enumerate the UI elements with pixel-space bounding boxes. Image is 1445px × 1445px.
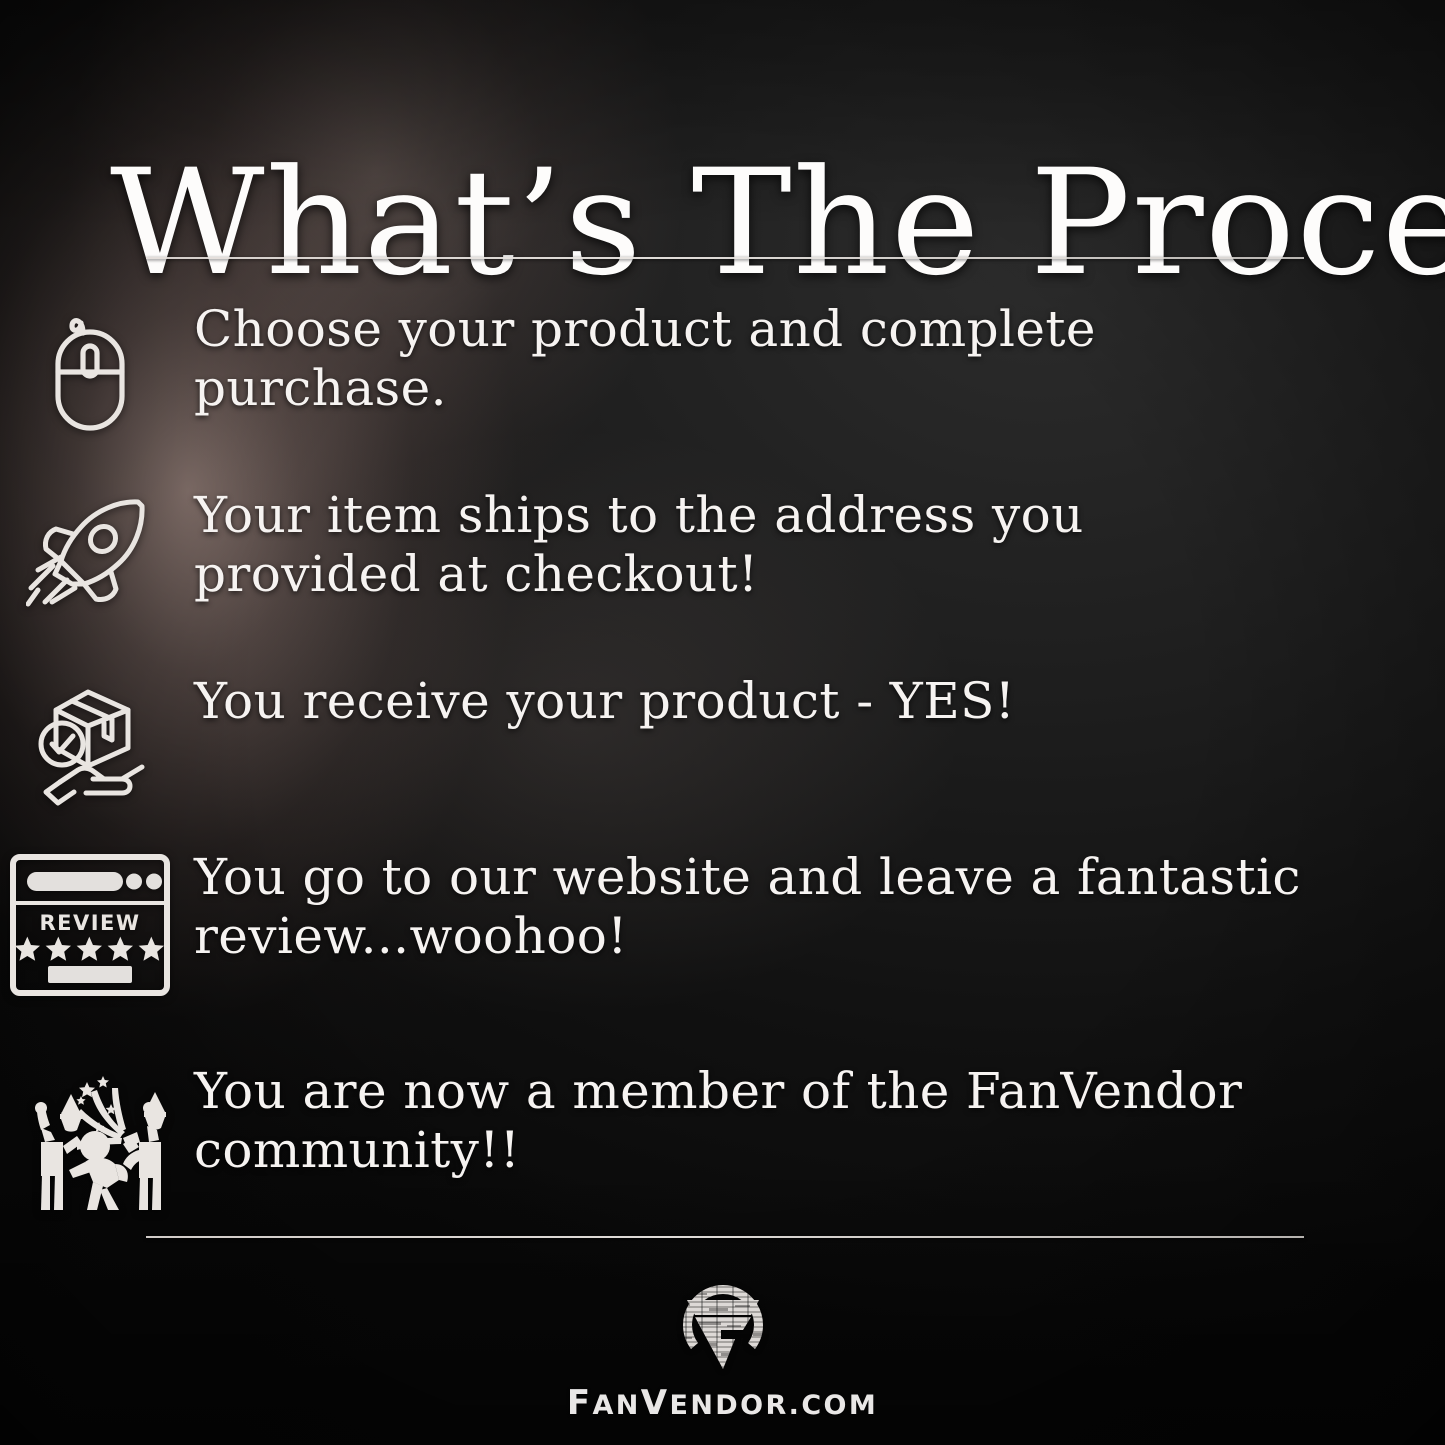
browser-review-stars-icon: REVIEW [0, 848, 180, 996]
rocket-icon [0, 486, 180, 616]
star-rating-group [15, 937, 164, 961]
list-item: You receive your product - YES! [0, 672, 1445, 830]
celebration-people-confetti-icon [0, 1062, 180, 1218]
brand-endor: ENDOR [669, 1390, 788, 1421]
brand-dotcom: .COM [789, 1390, 879, 1421]
list-item: You are now a member of the FanVendor co… [0, 1062, 1445, 1232]
page-title: What’s The Process [110, 150, 1418, 296]
list-item: REVIEW You go to our website and [0, 848, 1445, 1044]
list-item-label: Your item ships to the address you provi… [180, 486, 1354, 603]
brand-an: AN [592, 1390, 640, 1421]
divider-bottom [146, 1236, 1304, 1238]
process-poster: What’s The Process Choose your product a… [0, 0, 1445, 1445]
fanvendor-shield-logo [665, 1281, 781, 1377]
process-steps-list: Choose your product and complete purchas… [0, 300, 1445, 1250]
divider-top [146, 257, 1304, 259]
list-item-label: You go to our website and leave a fantas… [180, 848, 1354, 965]
package-in-hand-check-icon [0, 672, 180, 806]
review-label: REVIEW [39, 911, 140, 935]
brand-f: F [567, 1383, 593, 1423]
computer-mouse-icon [0, 300, 180, 434]
brand-wordmark: FANVENDOR.COM [567, 1383, 878, 1423]
list-item: Your item ships to the address you provi… [0, 486, 1445, 654]
brand-v: V [641, 1383, 670, 1423]
list-item-label: You are now a member of the FanVendor co… [180, 1062, 1354, 1179]
list-item: Choose your product and complete purchas… [0, 300, 1445, 468]
list-item-label: Choose your product and complete purchas… [180, 300, 1354, 417]
footer: FANVENDOR.COM [0, 1281, 1445, 1423]
list-item-label: You receive your product - YES! [180, 672, 1055, 731]
